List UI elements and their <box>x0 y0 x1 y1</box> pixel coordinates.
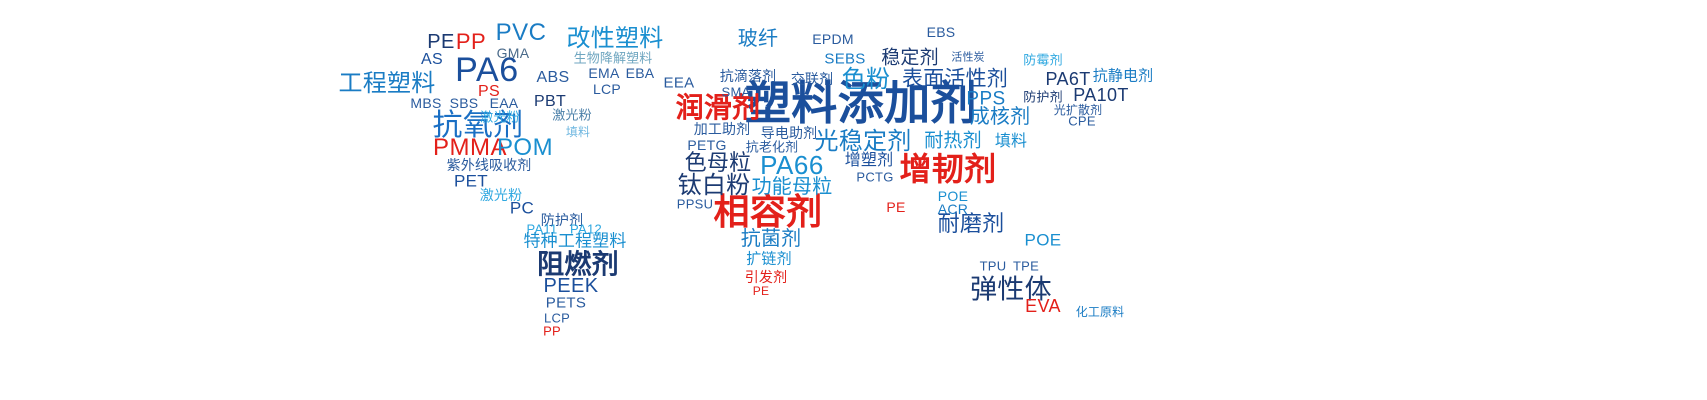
word-cloud-term[interactable]: 功能母粒 <box>752 177 833 197</box>
word-cloud-term[interactable]: SMA <box>722 86 751 99</box>
word-cloud-term[interactable]: 填料 <box>995 134 1027 150</box>
word-cloud-term[interactable]: PVC <box>496 21 547 45</box>
word-cloud-term[interactable]: EEA <box>664 76 695 91</box>
word-cloud-term[interactable]: TPE <box>1013 260 1039 273</box>
word-cloud-term[interactable]: 耐磨剂 <box>938 213 1005 235</box>
word-cloud-term[interactable]: 生物降解塑料 <box>574 52 653 65</box>
word-cloud-term[interactable]: 工程塑料 <box>339 72 436 96</box>
word-cloud-term[interactable]: PE <box>753 285 770 297</box>
word-cloud-term[interactable]: PE <box>427 32 454 52</box>
word-cloud-term[interactable]: 耐热剂 <box>924 132 982 151</box>
word-cloud-term[interactable]: 活性炭 <box>951 53 984 64</box>
word-cloud-term[interactable]: 填料 <box>566 126 590 138</box>
word-cloud-term[interactable]: 成核剂 <box>970 107 1031 127</box>
word-cloud-term[interactable]: AS <box>421 52 443 68</box>
word-cloud-term[interactable]: 特种工程塑料 <box>523 233 626 250</box>
word-cloud-term[interactable]: ABS <box>537 70 570 86</box>
word-cloud-term[interactable]: 光稳定剂 <box>815 130 912 154</box>
word-cloud-term[interactable]: 色粉 <box>842 68 890 92</box>
word-cloud-term[interactable]: PC <box>510 200 534 217</box>
word-cloud-term[interactable]: EBS <box>927 25 956 39</box>
word-cloud-term[interactable]: CPE <box>1068 115 1096 128</box>
word-cloud-term[interactable]: 激光粉 <box>552 109 591 122</box>
word-cloud-term[interactable]: PEEK <box>544 276 599 296</box>
word-cloud-term[interactable]: MBS <box>410 96 441 110</box>
word-cloud-term[interactable]: 表面活性剂 <box>902 69 1008 90</box>
word-cloud-term[interactable]: 稳定剂 <box>881 49 939 68</box>
word-cloud-term[interactable]: 扩链剂 <box>746 252 791 267</box>
word-cloud-term[interactable]: 激光粉 <box>480 111 519 124</box>
word-cloud-term[interactable]: 抗静电剂 <box>1093 69 1154 84</box>
word-cloud-term[interactable]: 化工原料 <box>1076 306 1124 318</box>
word-cloud-term[interactable]: SEBS <box>824 52 865 67</box>
word-cloud-term[interactable]: TPU <box>980 260 1007 273</box>
word-cloud-term[interactable]: EPDM <box>812 32 854 46</box>
word-cloud-term[interactable]: EVA <box>1025 297 1061 315</box>
word-cloud-term[interactable]: 改性塑料 <box>567 27 664 51</box>
word-cloud-term[interactable]: 防霉剂 <box>1023 54 1062 67</box>
word-cloud-term[interactable]: 防护剂 <box>1023 91 1062 104</box>
word-cloud-term[interactable]: POE <box>1025 232 1062 249</box>
word-cloud-term[interactable]: 加工助剂 <box>694 122 751 136</box>
word-cloud-term[interactable]: EAA <box>490 96 519 110</box>
word-cloud-term[interactable]: PETS <box>546 296 586 311</box>
word-cloud-term[interactable]: PCTG <box>856 171 893 184</box>
word-cloud-canvas: 塑料添加剂相容剂增韧剂润滑剂阻燃剂抗氧剂PA6工程塑料改性塑料PMMAPOMPV… <box>0 0 1707 400</box>
word-cloud-term[interactable]: 抗菌剂 <box>741 229 802 249</box>
word-cloud-term[interactable]: 紫外线吸收剂 <box>447 158 532 172</box>
word-cloud-term[interactable]: GMA <box>497 46 530 60</box>
word-cloud-term[interactable]: LCP <box>593 82 621 96</box>
word-cloud-term[interactable]: PA10T <box>1073 86 1129 104</box>
word-cloud-term[interactable]: PP <box>543 325 561 338</box>
word-cloud-term[interactable]: 抗滴落剂 <box>720 69 777 83</box>
word-cloud-term[interactable]: 色母粒 <box>685 152 752 174</box>
word-cloud-term[interactable]: PA66 <box>760 152 824 178</box>
word-cloud-term[interactable]: PE <box>886 200 905 214</box>
word-cloud-term[interactable]: 导电助剂 <box>761 126 818 140</box>
word-cloud-term[interactable]: 引发剂 <box>745 270 787 284</box>
word-cloud-term[interactable]: 增塑剂 <box>845 153 893 169</box>
word-cloud-term[interactable]: 交联剂 <box>791 72 833 86</box>
word-cloud-term[interactable]: 增韧剂 <box>900 153 997 185</box>
word-cloud-term[interactable]: 玻纤 <box>738 29 778 49</box>
word-cloud-term[interactable]: PP <box>456 31 486 53</box>
word-cloud-term[interactable]: SBS <box>450 96 479 110</box>
word-cloud-term[interactable]: EBA <box>626 66 655 80</box>
word-cloud-term[interactable]: 相容剂 <box>713 194 822 230</box>
word-cloud-term[interactable]: EMA <box>588 66 619 80</box>
word-cloud-term[interactable]: 钛白粉 <box>678 174 751 198</box>
word-cloud-term[interactable]: PPSU <box>677 198 713 211</box>
